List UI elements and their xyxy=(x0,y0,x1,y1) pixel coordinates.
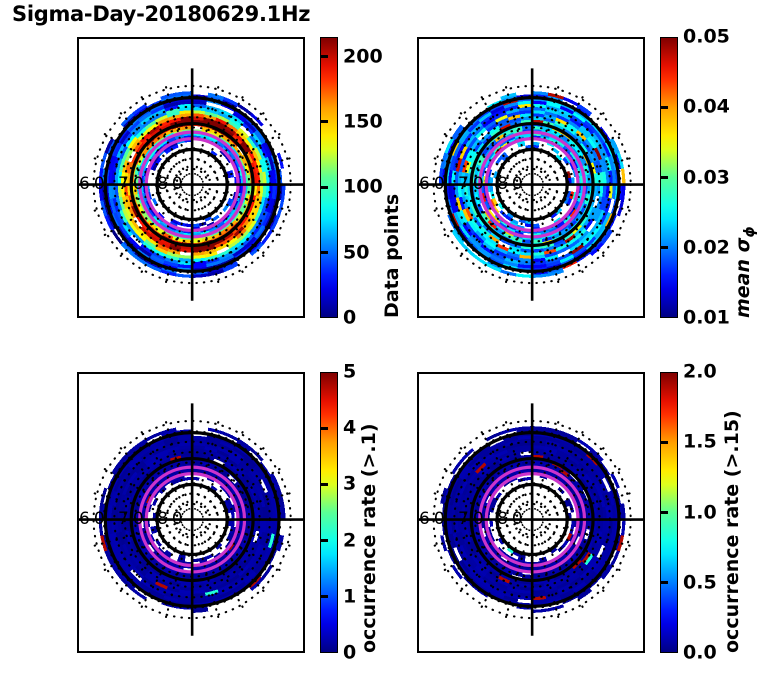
colorbar-tick-mark xyxy=(321,186,328,189)
colorbar-tick-label: 4 xyxy=(343,419,356,438)
colorbar-tick-label: 150 xyxy=(343,112,383,131)
colorbar-tick-label: 5 xyxy=(343,363,356,382)
colorbar-tick-label: 100 xyxy=(343,178,383,197)
colorbar-tick-label: 2.0 xyxy=(683,363,717,382)
colorbar-tick-mark xyxy=(661,441,668,444)
latitude-tick-labels: 60 70 80 xyxy=(79,509,187,529)
colorbar-tick-mark xyxy=(321,427,328,430)
colorbar-tick-label: 0 xyxy=(343,644,356,663)
latitude-tick-labels: 60 70 80 xyxy=(79,174,187,194)
colorbar-tick-label: 1.0 xyxy=(683,503,717,522)
colorbar-axis-title: Data points xyxy=(383,194,402,318)
heatmap-cell xyxy=(621,520,626,536)
colorbar-tick-label: 0.5 xyxy=(683,573,717,592)
colorbar-tick-mark xyxy=(321,251,328,254)
heatmap-cell xyxy=(516,273,532,278)
colorbar-tick-mark xyxy=(661,106,668,109)
colorbar-tick-mark xyxy=(661,511,668,514)
colorbar-axis-title: occurrence rate (>.1) xyxy=(360,423,379,653)
colorbar-axis-title: mean σϕ xyxy=(734,226,757,318)
colorbar-tick-label: 0.03 xyxy=(683,168,730,187)
colorbar-tick-label: 50 xyxy=(343,243,369,262)
colorbar-gradient xyxy=(320,37,338,318)
latitude-tick-labels: 60 70 80 xyxy=(419,174,527,194)
colorbar-tick-mark xyxy=(321,539,328,542)
colorbar-tick-mark xyxy=(321,483,328,486)
colorbar-tick-label: 200 xyxy=(343,47,383,66)
colorbar-tick-label: 2 xyxy=(343,531,356,550)
colorbar-tick-mark xyxy=(661,581,668,584)
colorbar-tick-label: 0.02 xyxy=(683,238,730,257)
colorbar-tick-mark xyxy=(661,176,668,179)
colorbar-axis-title: occurrence rate (>.15) xyxy=(723,410,742,653)
colorbar-tick-mark xyxy=(321,55,328,58)
colorbar-tick-label: 3 xyxy=(343,475,356,494)
colorbar-tick-label: 1.5 xyxy=(683,433,717,452)
colorbar-tick-mark xyxy=(661,246,668,249)
colorbar-tick-label: 1 xyxy=(343,587,356,606)
colorbar-tick-label: 0 xyxy=(343,309,356,328)
colorbar-tick-label: 0.0 xyxy=(683,644,717,663)
latitude-tick-labels: 60 70 80 xyxy=(419,509,527,529)
figure-root: Sigma-Day-20180629.1Hz 60 70 80050100150… xyxy=(0,0,759,674)
heatmap-cell xyxy=(532,608,548,613)
figure-title: Sigma-Day-20180629.1Hz xyxy=(12,2,310,26)
heatmap-cell xyxy=(176,273,192,278)
colorbar-tick-mark xyxy=(321,595,328,598)
colorbar-gradient xyxy=(320,372,338,653)
colorbar-tick-label: 0.04 xyxy=(683,98,730,117)
colorbar-tick-mark xyxy=(321,120,328,123)
heatmap-cell xyxy=(621,168,626,184)
colorbar-tick-label: 0.05 xyxy=(683,28,730,47)
colorbar-tick-label: 0.01 xyxy=(683,309,730,328)
